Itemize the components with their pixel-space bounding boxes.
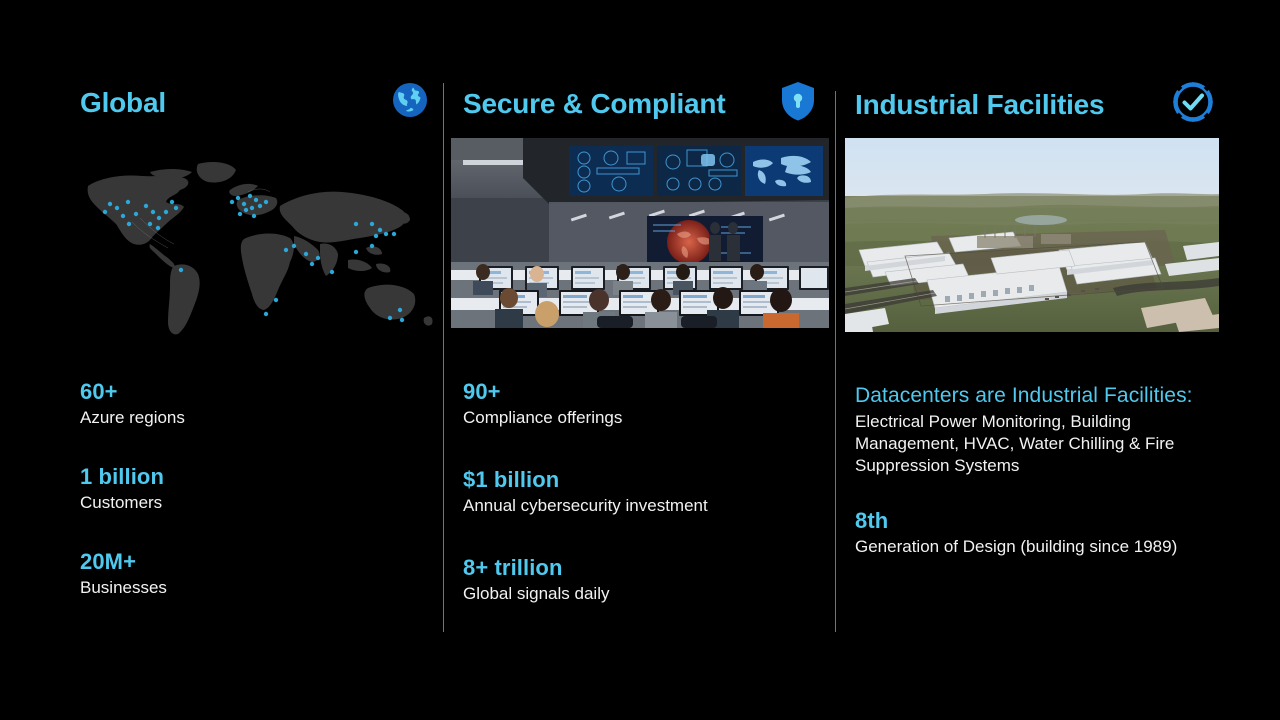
heading-global: Global (80, 80, 430, 125)
heading-secure: Secure & Compliant (463, 80, 818, 127)
stat-item: Datacenters are Industrial Facilities: E… (855, 382, 1225, 477)
heading-secure-label: Secure & Compliant (463, 87, 725, 121)
heading-industrial-label: Industrial Facilities (855, 88, 1104, 122)
stat-label: Global signals daily (463, 583, 823, 605)
stat-value: 1 billion (80, 463, 430, 490)
stat-label: Annual cybersecurity investment (463, 495, 823, 517)
stat-item: 60+ Azure regions (80, 378, 430, 429)
slide-canvas: Global Secure & Compliant Industrial Fac… (0, 0, 1280, 720)
stat-value: 60+ (80, 378, 430, 405)
shield-lock-icon (778, 80, 818, 127)
stat-item: 8+ trillion Global signals daily (463, 554, 823, 605)
stat-value: 20M+ (80, 548, 430, 575)
column-divider-left (443, 83, 444, 632)
stat-label: Businesses (80, 577, 430, 599)
stat-label: Electrical Power Monitoring, Building Ma… (855, 411, 1225, 477)
check-circle-icon (1171, 80, 1215, 129)
stat-item: 1 billion Customers (80, 463, 430, 514)
datacenter-aerial-photo (845, 138, 1219, 332)
stat-item: 8th Generation of Design (building since… (855, 507, 1225, 558)
stats-industrial: Datacenters are Industrial Facilities: E… (855, 382, 1225, 584)
stats-secure: 90+ Compliance offerings $1 billion Annu… (463, 378, 823, 642)
stat-label: Customers (80, 492, 430, 514)
stat-value: Datacenters are Industrial Facilities: (855, 382, 1225, 409)
heading-global-label: Global (80, 86, 166, 120)
globe-icon (390, 80, 430, 125)
stat-label: Compliance offerings (463, 407, 823, 429)
stat-item: 90+ Compliance offerings (463, 378, 823, 429)
column-divider-right (835, 91, 836, 632)
stat-value: 8+ trillion (463, 554, 823, 581)
stat-value: $1 billion (463, 466, 823, 493)
world-map-azure-regions (80, 152, 440, 342)
stat-label: Azure regions (80, 407, 430, 429)
stat-item: $1 billion Annual cybersecurity investme… (463, 466, 823, 517)
stat-label: Generation of Design (building since 198… (855, 536, 1225, 558)
security-operations-center-photo (451, 138, 829, 328)
stat-value: 8th (855, 507, 1225, 534)
stat-value: 90+ (463, 378, 823, 405)
heading-industrial: Industrial Facilities (855, 80, 1215, 129)
stats-global: 60+ Azure regions 1 billion Customers 20… (80, 378, 430, 633)
stat-item: 20M+ Businesses (80, 548, 430, 599)
